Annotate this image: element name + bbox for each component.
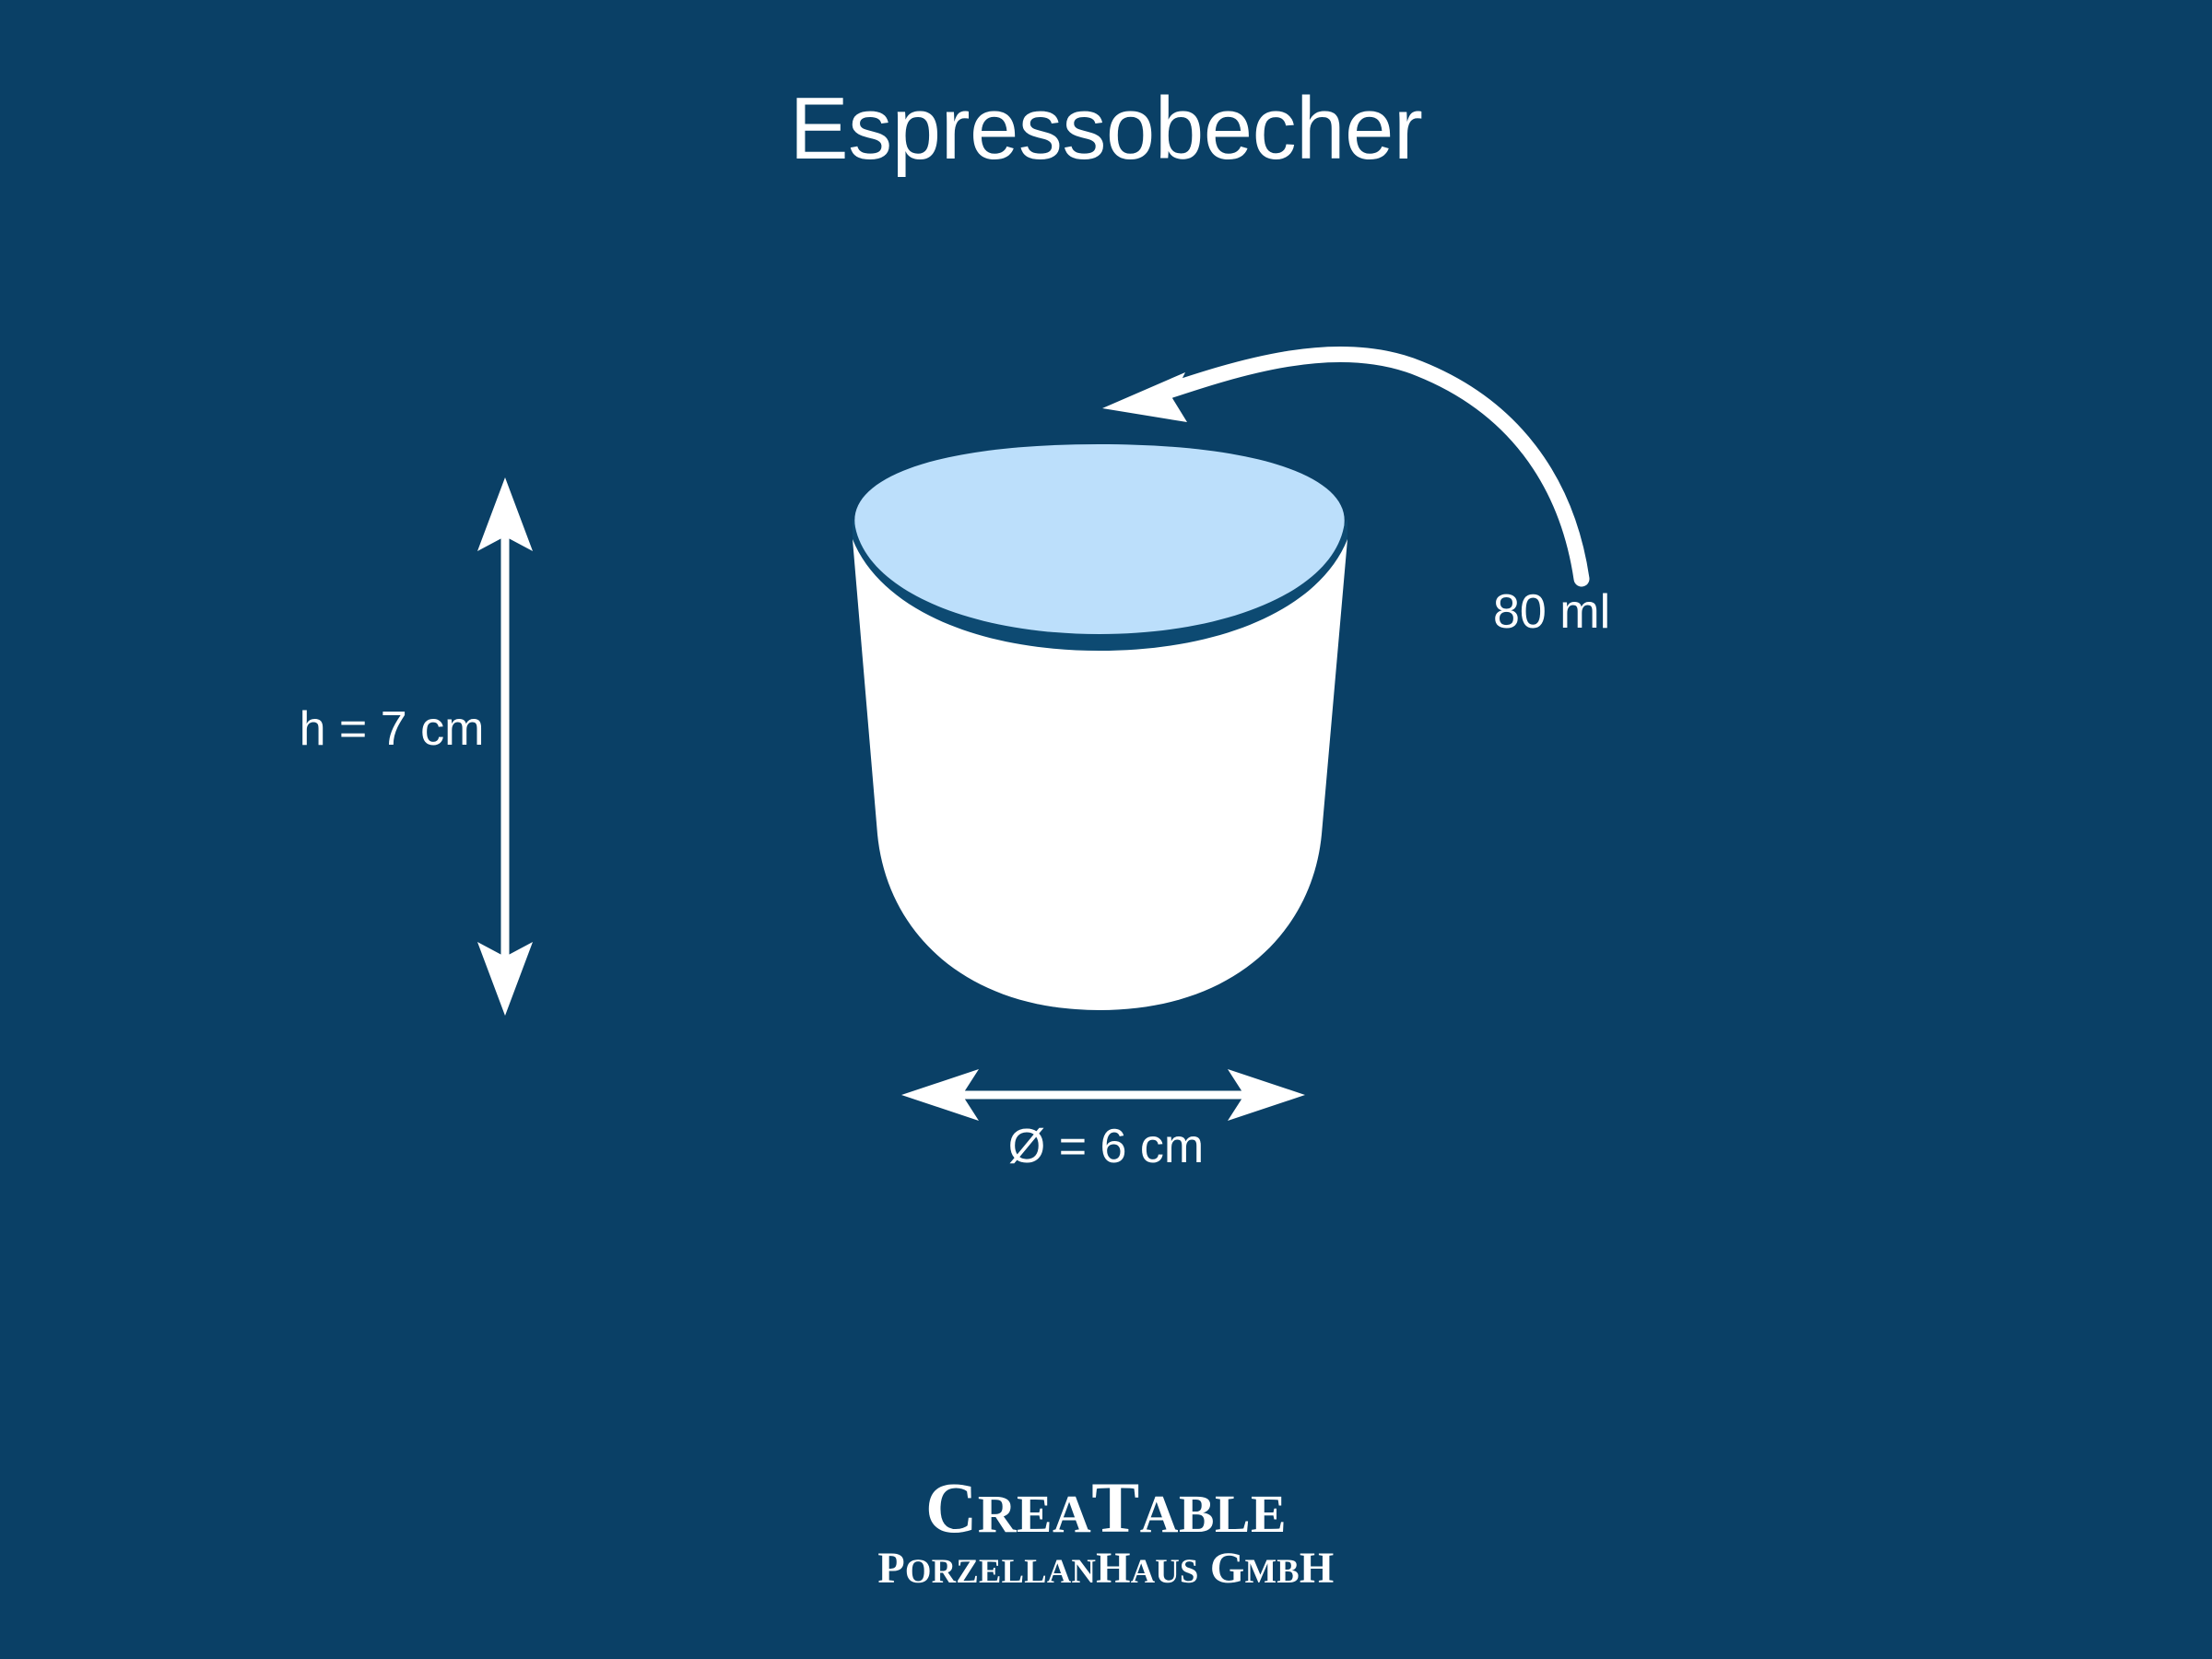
illustration-canvas — [0, 0, 2212, 1659]
height-label: h = 7 cm — [286, 705, 498, 753]
arrowhead-callout-icon — [1102, 372, 1187, 422]
product-spec-slide: Espressobecher h = 7 cm Ø = 6 cm 80 ml C… — [0, 0, 2212, 1659]
brand-tagline: PORZELLANHAUS GMBH — [0, 1547, 2212, 1591]
page-title: Espressobecher — [0, 85, 2212, 173]
volume-label: 80 ml — [1493, 588, 1770, 636]
diameter-dimension-arrow — [901, 1069, 1305, 1121]
espresso-cup — [853, 444, 1347, 1010]
brand-name: CREATABLE — [0, 1473, 2212, 1543]
diameter-label: Ø = 6 cm — [922, 1123, 1290, 1171]
brand-logo: CREATABLE PORZELLANHAUS GMBH — [0, 1473, 2212, 1591]
